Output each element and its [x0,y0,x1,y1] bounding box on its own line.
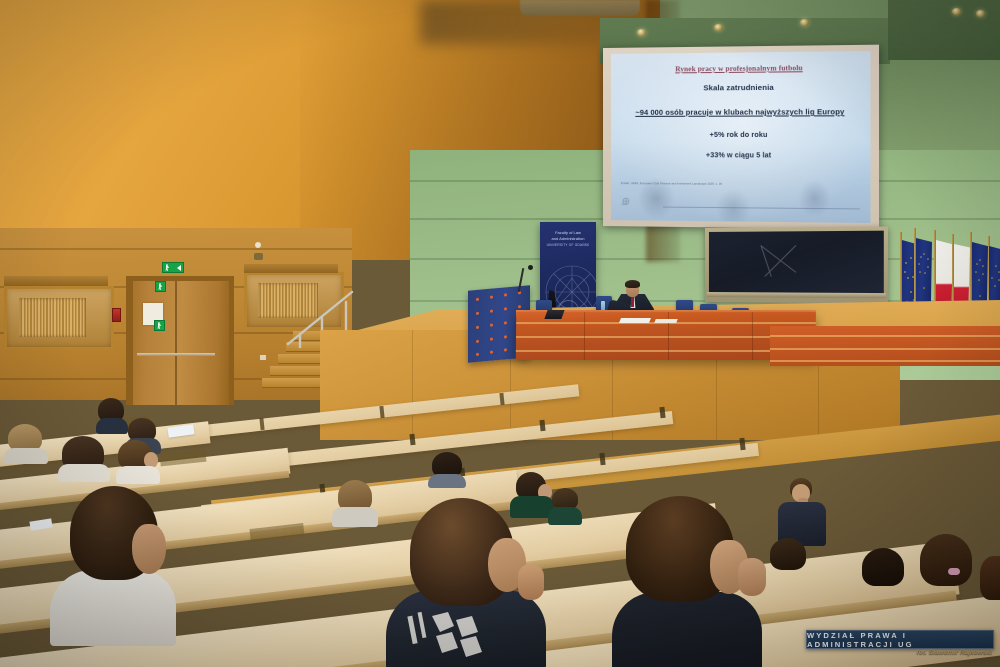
uefa-logo-icon: UEFA [621,194,647,208]
ceiling-spotlight [800,19,809,26]
venue-watermark-label: WYDZIAŁ PRAWA I ADMINISTRACJI UG [807,631,993,649]
photo-credit: fot. Sławomir Rajkowski [856,649,992,656]
hoodie-graphic-icon [402,610,494,666]
slide-stat-1: +5% rok do roku [611,132,871,139]
laptop [544,310,564,319]
ceiling-duct [520,0,640,16]
soffit-right [888,0,1000,60]
slide-main-point: ~94 000 osób pracuje w klubach najwyższy… [611,107,871,117]
fire-alarm-button[interactable] [112,308,121,322]
projection-screen-frame: Rynek pracy w profesjonalnym futbolu Ska… [603,45,879,230]
banner-line-1: Faculty of Law [540,230,596,235]
chalkboard [709,231,884,293]
acoustic-panel-left [4,286,114,350]
chalk-marks-icon [709,231,884,293]
hair-tie [948,568,960,575]
acoustic-panel-right-header [244,264,338,273]
chalk-tray [707,292,886,298]
ceiling-spotlight [714,24,723,31]
wall-speaker [254,253,263,260]
slide-subtitle: Skala zatrudnienia [611,82,871,93]
venue-watermark: WYDZIAŁ PRAWA I ADMINISTRACJI UG [806,630,994,649]
projection-screen: Rynek pracy w profesjonalnym futbolu Ska… [611,51,871,223]
exit-sign-icon [154,320,165,331]
ceiling-spotlight [637,29,646,36]
documents-on-table [654,319,678,323]
exit-sign-icon [162,262,184,273]
banner-line-3: UNIVERSITY OF GDAŃSK [540,243,596,247]
documents-on-table [619,318,651,323]
ceiling-spotlight [976,10,985,17]
exit-sign-icon [155,281,166,292]
hand [518,564,544,600]
chalkboard-frame [705,226,888,303]
lecture-hall-photo: Rynek pracy w profesjonalnym futbolu Ska… [0,0,1000,667]
slide-stat-2: +33% w ciągu 5 lat [611,152,871,160]
acoustic-panel-left-header [4,276,108,286]
slide-logo-label: UEFA [621,203,628,206]
banner-line-2: and Administration [540,236,596,241]
ceiling-spotlight [952,8,961,15]
ceiling-sensor [255,242,261,248]
microphone-icon [528,265,533,270]
hand [738,558,766,596]
